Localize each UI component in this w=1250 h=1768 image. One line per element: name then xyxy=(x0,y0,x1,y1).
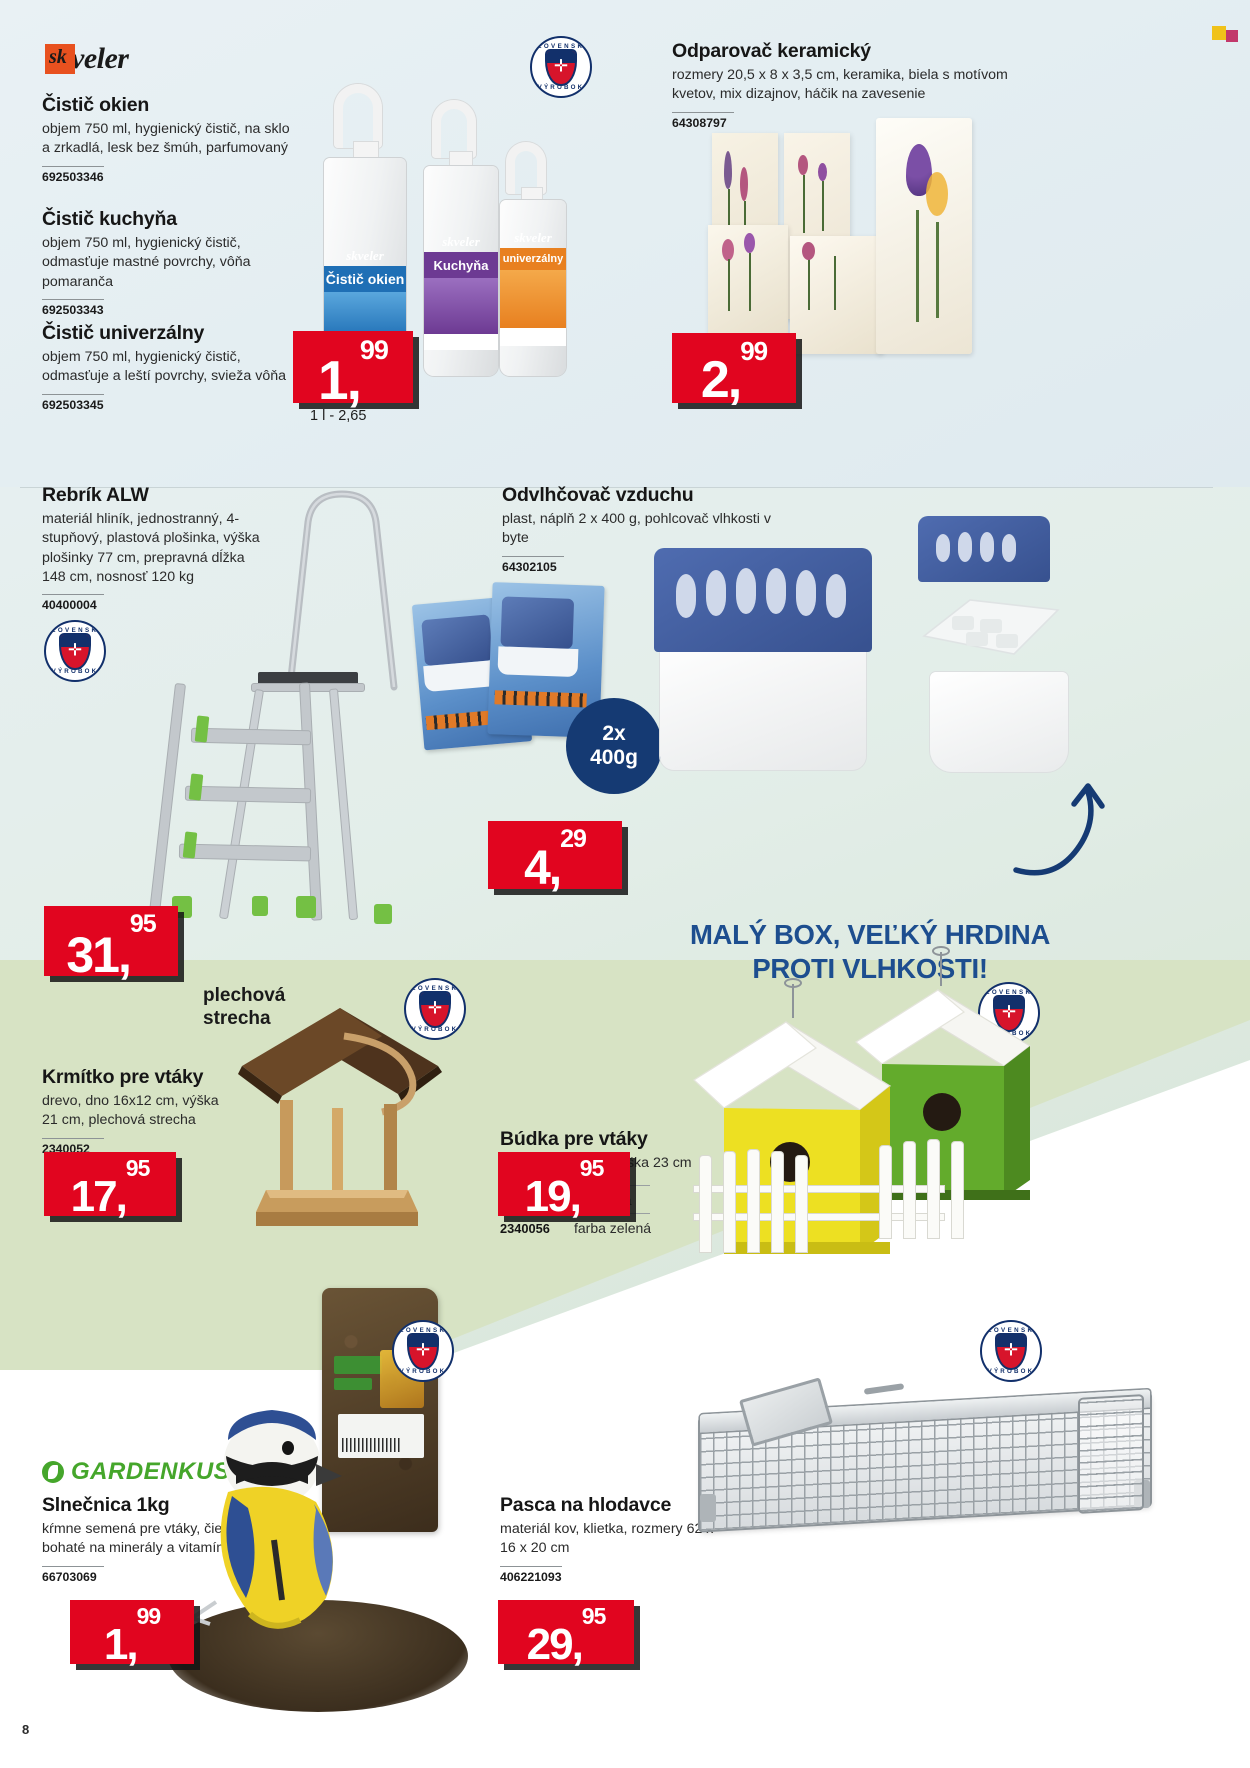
code-rule xyxy=(500,1566,562,1567)
product-block-rebrik: Rebrík ALW materiál hliník, jednostranný… xyxy=(42,484,272,612)
product-description: drevo, dno 16x12 cm, výška 21 cm, plecho… xyxy=(42,1092,232,1131)
gardenkus-leaf-icon xyxy=(42,1461,64,1483)
birdhouse-hanger-wire-yellow xyxy=(792,984,794,1018)
trap-door-panel xyxy=(1080,1396,1142,1511)
bottle-brand: skveler xyxy=(442,234,480,250)
dehumidifier-grid-lid xyxy=(918,592,1064,672)
price-comma: , xyxy=(728,359,740,403)
code-rule xyxy=(42,1566,104,1567)
product-description: materiál hliník, jednostranný, 4-stupňov… xyxy=(42,510,272,587)
variant-label: farba zelená xyxy=(574,1220,651,1236)
slovak-made-badge-trap: SLOVENSKÝ VÝROBOK xyxy=(980,1320,1042,1382)
price-tag-budka: 19 , 95 xyxy=(498,1152,630,1216)
product-block-cistic-okien: Čistič okien objem 750 ml, hygienický či… xyxy=(42,94,290,184)
badge-top-text: SLOVENSKÝ xyxy=(531,43,591,50)
price-decimal: 99 xyxy=(360,339,388,362)
badge-bottom-text: VÝROBOK xyxy=(538,84,585,91)
corner-mark-magenta xyxy=(1226,30,1238,42)
birdhouse-hook-yellow xyxy=(784,978,802,988)
price-tag-rebrik: 31 , 95 xyxy=(44,906,178,976)
product-description: materiál kov, klietka, rozmery 62 x 16 x… xyxy=(500,1520,720,1559)
bottle-brand: skveler xyxy=(514,230,552,246)
promo-line-1: MALÝ BOX, VEĽKÝ HRDINA xyxy=(690,919,1050,950)
price-tag-odparovac: 2 , 99 xyxy=(672,333,796,403)
skveler-mark: sk xyxy=(45,44,75,74)
product-block-odparovac: Odparovač keramický rozmery 20,5 x 8 x 3… xyxy=(672,40,1012,130)
trap-foot-left xyxy=(700,1494,716,1522)
refill-quantity-badge: 2x 400g xyxy=(566,698,662,794)
product-description: plast, náplň 2 x 400 g, pohlcovač vlhkos… xyxy=(502,510,772,549)
spray-bottle-kitchen: skveler Kuchyňa xyxy=(420,150,504,376)
product-block-cistic-kuchyna: Čistič kuchyňa objem 750 ml, hygienický … xyxy=(42,208,294,317)
bottle-product-name: Čistič okien xyxy=(326,271,405,287)
bottle-brand: skveler xyxy=(346,248,384,264)
promo-line-2: PROTI VLHKOSTI! xyxy=(660,952,1080,986)
product-title: Odparovač keramický xyxy=(672,40,1012,63)
product-title: Krmítko pre vtáky xyxy=(42,1066,232,1089)
slovak-made-badge-seeds: SLOVENSKÝ VÝROBOK xyxy=(392,1320,454,1382)
price-decimal: 99 xyxy=(740,341,767,363)
badge-bottom-text: VÝROBOK xyxy=(400,1368,447,1375)
price-decimal: 95 xyxy=(582,1607,606,1626)
product-code: 406221093 xyxy=(500,1570,720,1584)
product-title: Čistič kuchyňa xyxy=(42,208,294,231)
product-block-pasca: Pasca na hlodavce materiál kov, klietka,… xyxy=(500,1494,720,1584)
price-integer: 31 xyxy=(66,934,118,976)
price-integer: 1 xyxy=(318,357,347,403)
product-description: objem 750 ml, hygienický čistič, na sklo… xyxy=(42,120,290,159)
badge-top-text: SLOVENSKÝ xyxy=(393,1327,453,1334)
product-title: Rebrík ALW xyxy=(42,484,272,507)
page-number: 8 xyxy=(22,1722,29,1737)
badge-bottom-text: VÝROBOK xyxy=(988,1368,1035,1375)
product-code: 692503343 xyxy=(42,303,294,317)
product-block-krmitko: Krmítko pre vtáky drevo, dno 16x12 cm, v… xyxy=(42,1066,232,1156)
price-comma: , xyxy=(118,934,130,976)
price-integer: 29 xyxy=(527,1627,572,1664)
price-comma: , xyxy=(549,849,560,889)
price-tag-pasca: 29 , 95 xyxy=(498,1600,634,1664)
ceramic-evaporator-4 xyxy=(790,236,882,354)
code-rule xyxy=(672,112,734,113)
product-code: 40400004 xyxy=(42,598,272,612)
price-integer: 19 xyxy=(525,1179,570,1216)
product-description: objem 750 ml, hygienický čistič, odmasťu… xyxy=(42,348,294,387)
code-rule xyxy=(502,556,564,557)
ceramic-evaporator-3 xyxy=(708,225,788,345)
price-decimal: 29 xyxy=(560,829,586,850)
price-comma: , xyxy=(347,357,360,403)
product-code: 692503346 xyxy=(42,170,290,184)
price-integer: 1 xyxy=(104,1627,126,1664)
price-decimal: 99 xyxy=(137,1607,161,1626)
code-rule xyxy=(42,394,104,395)
product-title: Odvlhčovač vzduchu xyxy=(502,484,772,507)
product-description: rozmery 20,5 x 8 x 3,5 cm, keramika, bie… xyxy=(672,66,1012,105)
slovak-made-badge-ladder: SLOVENSKÝ VÝROBOK xyxy=(44,620,106,682)
badge-top-text: SLOVENSKÝ xyxy=(45,627,105,634)
refill-count: 2x xyxy=(602,722,625,746)
price-integer: 4 xyxy=(524,849,549,889)
price-comma: , xyxy=(572,1627,582,1664)
badge-top-text: SLOVENSKÝ xyxy=(981,1327,1041,1334)
spray-bottle-universal: skveler univerzálny xyxy=(496,186,570,376)
curved-arrow-icon xyxy=(1010,770,1130,880)
product-title: Pasca na hlodavce xyxy=(500,1494,720,1517)
price-comma: , xyxy=(570,1179,580,1216)
bottle-product-name: Kuchyňa xyxy=(434,258,489,273)
price-comma: , xyxy=(116,1179,126,1216)
product-title: Čistič univerzálny xyxy=(42,322,294,345)
catalog-page: sk veler Čistič okien objem 750 ml, hygi… xyxy=(0,0,1250,1768)
price-decimal: 95 xyxy=(130,914,156,935)
slovak-made-badge: SLOVENSKÝ VÝROBOK xyxy=(530,36,592,98)
bottle-product-name: univerzálny xyxy=(503,253,564,265)
corner-mark-yellow xyxy=(1212,26,1226,40)
skveler-wordmark: veler xyxy=(71,42,128,76)
promo-headline: MALÝ BOX, VEĽKÝ HRDINA PROTI VLHKOSTI! xyxy=(660,918,1080,985)
product-code: 692503345 xyxy=(42,398,294,412)
dehumidifier-spare-tub xyxy=(930,672,1068,772)
product-block-cistic-univerzalny: Čistič univerzálny objem 750 ml, hygieni… xyxy=(42,322,294,412)
skveler-mark-text: sk xyxy=(49,46,67,69)
code-rule xyxy=(42,594,104,595)
price-unit-cistic: 1 l - 2,65 xyxy=(310,408,366,424)
price-integer: 2 xyxy=(701,359,728,403)
brand-logo-skveler: sk veler xyxy=(45,42,128,76)
badge-bottom-text: VÝROBOK xyxy=(52,668,99,675)
product-title: Čistič okien xyxy=(42,94,290,117)
code-rule xyxy=(42,299,104,300)
price-tag-odvlhcovac: 4 , 29 xyxy=(488,821,622,889)
blue-tit-bird xyxy=(176,1352,356,1642)
variant-code: 2340056 xyxy=(500,1221,562,1236)
code-rule xyxy=(42,166,104,167)
code-rule xyxy=(42,1138,104,1139)
birdhouse-hook-green xyxy=(932,946,950,956)
price-tag-slnecnica: 1 , 99 xyxy=(70,1600,194,1664)
price-decimal: 95 xyxy=(126,1159,150,1178)
price-tag-cistic: 1 , 99 xyxy=(293,331,413,403)
refill-weight: 400g xyxy=(590,746,638,770)
product-description: objem 750 ml, hygienický čistič, odmasťu… xyxy=(42,234,294,292)
price-comma: , xyxy=(126,1627,136,1664)
price-tag-krmitko: 17 , 95 xyxy=(44,1152,176,1216)
price-integer: 17 xyxy=(71,1179,116,1216)
price-decimal: 95 xyxy=(580,1159,604,1178)
birdhouse-hanger-wire-green xyxy=(940,952,942,986)
ceramic-evaporator-large xyxy=(876,118,972,354)
badge-top-text: SLOVENSKÝ xyxy=(405,985,465,992)
